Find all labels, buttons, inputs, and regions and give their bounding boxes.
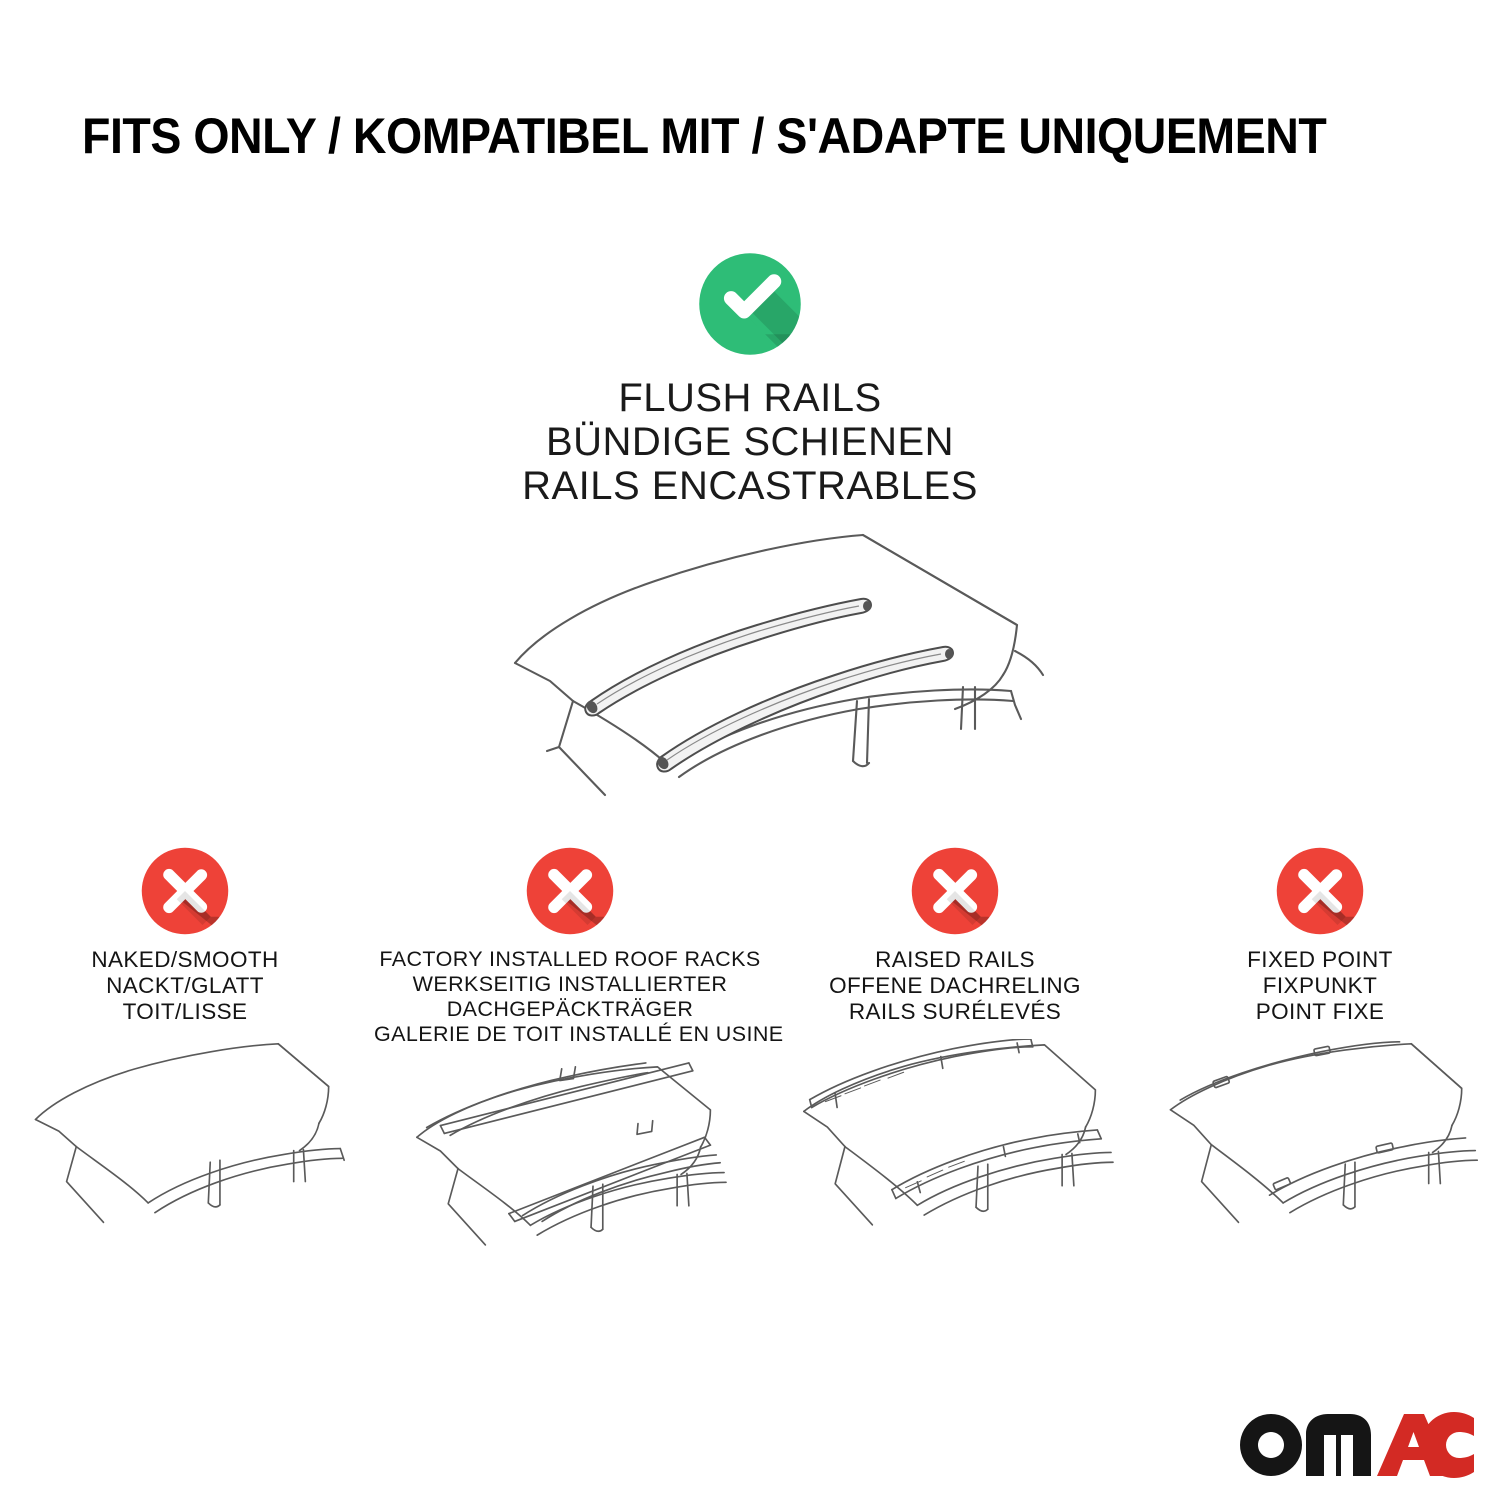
label-line-fr: POINT FIXE	[1144, 999, 1496, 1025]
car-roof-fixed-point-illustration	[1140, 1039, 1500, 1269]
logo-letter-o	[1240, 1414, 1302, 1476]
cross-circle-icon	[139, 845, 231, 937]
label-line-de: FIXPUNKT	[1144, 973, 1496, 999]
incompatible-item-fixed-point: FIXED POINT FIXPUNKT POINT FIXE	[1140, 845, 1500, 1269]
logo-letter-m	[1306, 1414, 1371, 1476]
incompatible-section: NAKED/SMOOTH NACKT/GLATT TOIT/LISSE	[0, 845, 1500, 1291]
compatible-section: FLUSH RAILS BÜNDIGE SCHIENEN RAILS ENCAS…	[0, 250, 1500, 508]
compatible-label-de: BÜNDIGE SCHIENEN	[0, 420, 1500, 464]
car-roof-raised-rails-illustration	[770, 1039, 1140, 1269]
car-roof-factory-rack-illustration	[370, 1061, 770, 1291]
label-line-de: NACKT/GLATT	[4, 973, 366, 999]
label-line-de-2: DACHGEPÄCKTRÄGER	[374, 997, 766, 1022]
label-line-fr: RAILS SURÉLEVÉS	[774, 999, 1136, 1025]
label-line-fr: TOIT/LISSE	[4, 999, 366, 1025]
incompatible-label-factory-rack: FACTORY INSTALLED ROOF RACKS WERKSEITIG …	[370, 947, 770, 1047]
label-line-de: OFFENE DACHRELING	[774, 973, 1136, 999]
label-line-de-1: WERKSEITIG INSTALLIERTER	[374, 972, 766, 997]
compatible-label-fr: RAILS ENCASTRABLES	[0, 464, 1500, 508]
incompatible-label-naked-smooth: NAKED/SMOOTH NACKT/GLATT TOIT/LISSE	[0, 947, 370, 1025]
cross-circle-icon	[524, 845, 616, 937]
incompatible-item-factory-rack: FACTORY INSTALLED ROOF RACKS WERKSEITIG …	[370, 845, 770, 1291]
compatible-label: FLUSH RAILS BÜNDIGE SCHIENEN RAILS ENCAS…	[0, 376, 1500, 508]
car-roof-flush-rails-illustration	[455, 505, 1055, 805]
incompatible-label-raised-rails: RAISED RAILS OFFENE DACHRELING RAILS SUR…	[770, 947, 1140, 1025]
label-line-en: FACTORY INSTALLED ROOF RACKS	[374, 947, 766, 972]
cross-circle-icon	[909, 845, 1001, 937]
cross-circle-icon	[1274, 845, 1366, 937]
label-line-en: FIXED POINT	[1144, 947, 1496, 973]
incompatible-item-raised-rails: RAISED RAILS OFFENE DACHRELING RAILS SUR…	[770, 845, 1140, 1269]
omac-logo: OMAC	[1238, 1412, 1474, 1478]
check-circle-icon	[696, 250, 804, 358]
incompatible-item-naked-smooth: NAKED/SMOOTH NACKT/GLATT TOIT/LISSE	[0, 845, 370, 1269]
label-line-fr: GALERIE DE TOIT INSTALLÉ EN USINE	[374, 1022, 766, 1047]
incompatible-label-fixed-point: FIXED POINT FIXPUNKT POINT FIXE	[1140, 947, 1500, 1025]
compatible-label-en: FLUSH RAILS	[0, 376, 1500, 420]
page-title: FITS ONLY / KOMPATIBEL MIT / S'ADAPTE UN…	[82, 106, 1328, 166]
label-line-en: RAISED RAILS	[774, 947, 1136, 973]
car-roof-naked-smooth-illustration	[0, 1039, 370, 1269]
label-line-en: NAKED/SMOOTH	[4, 947, 366, 973]
